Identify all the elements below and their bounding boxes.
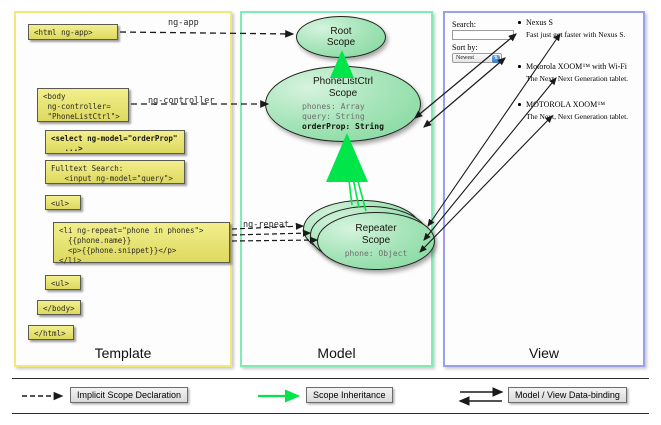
view-search-label: Search: <box>452 20 476 29</box>
body-tag-box: <body ng-controller= "PhoneListCtrl"> <box>37 88 129 122</box>
html-close-box: </html> <box>28 325 74 340</box>
root-scope-title: Root Scope <box>327 26 355 48</box>
li-repeat-box: <li ng-repeat="phone in phones"> {{phone… <box>53 222 230 263</box>
view-sort-select[interactable]: Newest ⇅ <box>452 53 502 63</box>
phone-snippet: The Next, Next Generation tablet. <box>526 74 628 83</box>
ul-close-box: <ul> <box>45 275 81 290</box>
list-bullet-icon <box>518 21 521 24</box>
legend-scope-inheritance: Scope Inheritance <box>306 387 393 403</box>
diagram-canvas: Template Model View <html ng-app> <body … <box>0 0 661 425</box>
scope-prop-query: query: String <box>302 112 384 122</box>
phone-snippet: The Next, Next Generation tablet. <box>526 112 628 121</box>
list-bullet-icon <box>518 65 521 68</box>
select-stepper-icon: ⇅ <box>492 55 500 63</box>
legend-divider-bottom <box>12 413 649 414</box>
repeater-scope-ellipse: Repeater Scope phone: Object <box>317 212 435 270</box>
panel-model: Model <box>240 11 433 367</box>
select-tag-box: <select ng-model="orderProp" ...> <box>45 130 185 154</box>
repeater-scope-title: Repeater Scope <box>355 223 396 245</box>
search-input-box: Fulltext Search: <input ng-model="query"… <box>45 160 185 184</box>
ng-repeat-label: ng-repeat <box>243 220 289 230</box>
legend-divider-top <box>12 378 649 379</box>
scope-prop-phones: phones: Array <box>302 102 384 112</box>
phone-snippet: Fast just got faster with Nexus S. <box>526 30 625 39</box>
phone-name: Motorola XOOM™ with Wi-Fi <box>526 62 627 71</box>
view-sort-label: Sort by: <box>452 43 478 52</box>
legend-model-view-data-binding: Model / View Data-binding <box>508 387 627 403</box>
scope-prop-phone: phone: Object <box>345 249 408 259</box>
panel-model-label: Model <box>242 345 431 361</box>
root-scope-ellipse: Root Scope <box>296 16 386 58</box>
ng-app-label: ng-app <box>168 18 199 28</box>
phonelistctrl-scope-title: PhoneListCtrl Scope <box>313 76 373 98</box>
view-search-input[interactable] <box>452 30 514 40</box>
repeater-scope-props: phone: Object <box>345 249 408 259</box>
phone-name: Nexus S <box>526 18 553 27</box>
scope-prop-orderprop: orderProp: String <box>302 122 384 132</box>
phonelistctrl-scope-ellipse: PhoneListCtrl Scope phones: Array query:… <box>265 66 421 142</box>
legend-implicit-scope-declaration: Implicit Scope Declaration <box>70 387 188 403</box>
phonelistctrl-scope-props: phones: Array query: String orderProp: S… <box>302 102 384 132</box>
ng-controller-label: ng-controller <box>148 96 215 106</box>
html-tag-box: <html ng-app> <box>28 24 118 40</box>
body-close-box: </body> <box>37 300 81 315</box>
panel-template-label: Template <box>16 345 230 361</box>
legend: Implicit Scope Declaration Scope Inherit… <box>12 378 649 414</box>
ul-open-box: <ul> <box>45 195 81 210</box>
panel-view-label: View <box>445 345 643 361</box>
list-bullet-icon <box>518 103 521 106</box>
view-sort-selected-value: Newest <box>456 55 474 61</box>
phone-name: MOTOROLA XOOM™ <box>526 100 605 109</box>
